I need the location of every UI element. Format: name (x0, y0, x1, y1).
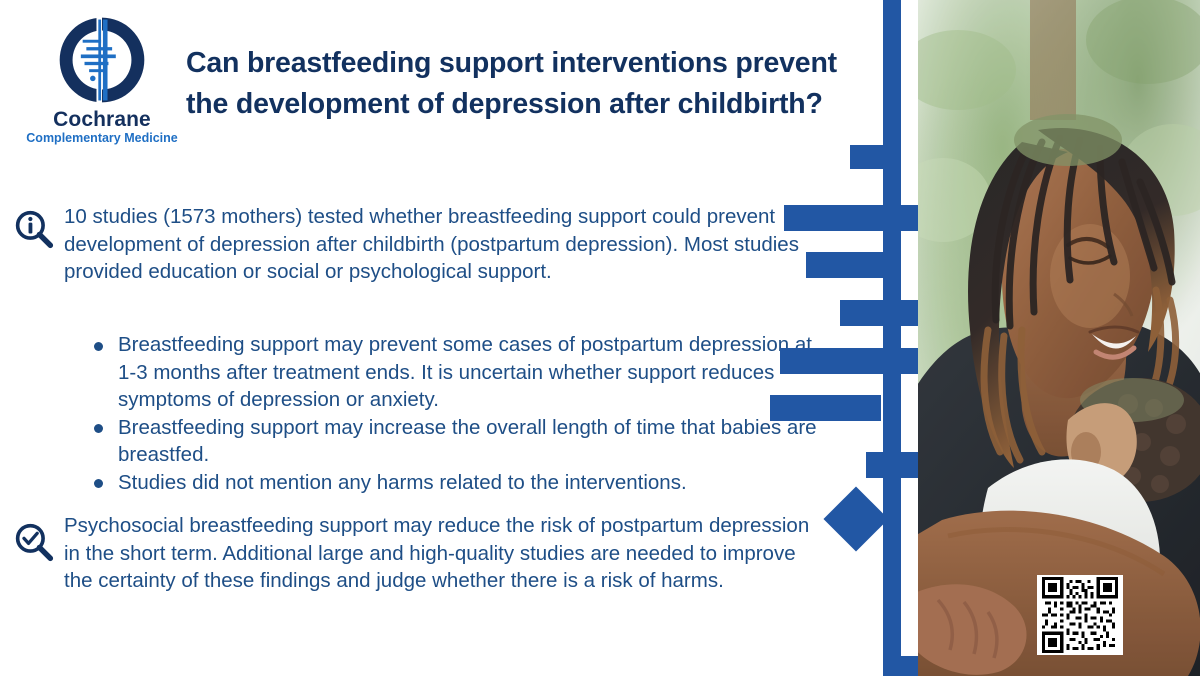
conclusion-section: Psychosocial breastfeeding support may r… (14, 512, 824, 595)
forest-bar (850, 145, 883, 169)
intro-text: 10 studies (1573 mothers) tested whether… (64, 203, 814, 286)
intro-section: 10 studies (1573 mothers) tested whether… (14, 203, 814, 286)
forest-bar (884, 656, 920, 676)
forest-bar (806, 252, 885, 278)
magnifier-check-icon (14, 512, 64, 567)
list-item: Breastfeeding support may increase the o… (72, 414, 817, 469)
list-item: Studies did not mention any harms relate… (72, 469, 817, 497)
list-item-label: Breastfeeding support may prevent some c… (118, 333, 812, 411)
cochrane-c-forest-plot-logo (56, 14, 148, 106)
magnifier-info-icon (14, 203, 64, 254)
list-item: Breastfeeding support may prevent some c… (72, 331, 817, 414)
conclusion-text: Psychosocial breastfeeding support may r… (64, 512, 824, 595)
list-item-label: Studies did not mention any harms relate… (118, 471, 687, 494)
logo-subtitle: Complementary Medicine (18, 132, 186, 145)
infographic-poster: Cochrane Complementary Medicine Can brea… (0, 0, 1200, 676)
forest-bar (770, 395, 881, 421)
forest-bar (780, 348, 928, 374)
logo-title: Cochrane (18, 109, 186, 130)
qr-code[interactable] (1037, 575, 1123, 655)
bullet-dot-icon (94, 424, 103, 433)
forest-bar (840, 300, 930, 326)
list-item-label: Breastfeeding support may increase the o… (118, 416, 817, 467)
cochrane-logo: Cochrane Complementary Medicine (18, 14, 186, 164)
line-of-no-effect (883, 0, 901, 676)
findings-list: Breastfeeding support may prevent some c… (72, 331, 817, 496)
bullet-dot-icon (94, 479, 103, 488)
forest-plot-decoration (760, 0, 920, 676)
bullet-dot-icon (94, 342, 103, 351)
forest-summary-diamond (823, 486, 888, 551)
forest-bar (784, 205, 919, 231)
